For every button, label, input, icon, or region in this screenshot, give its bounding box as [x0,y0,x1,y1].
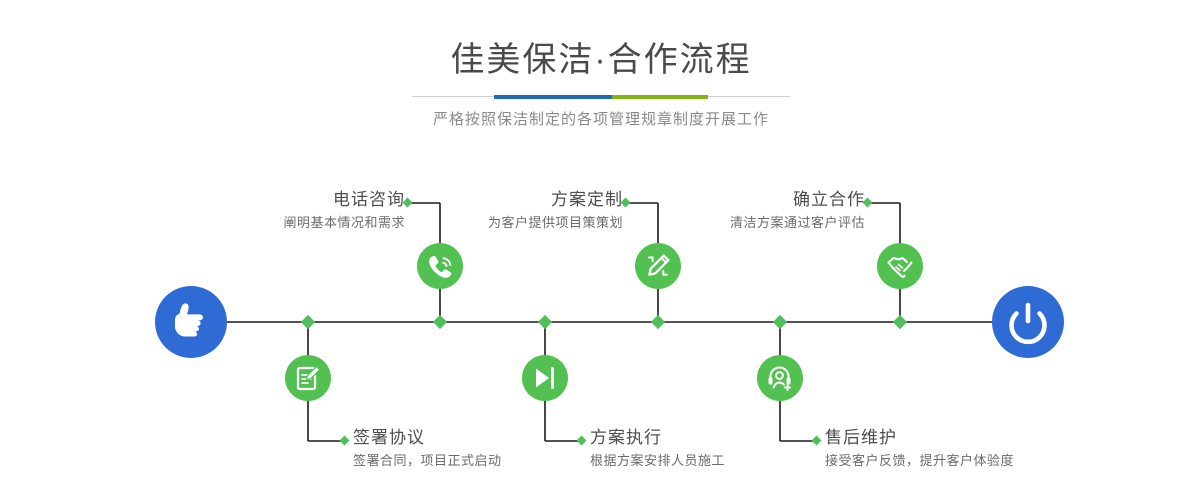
label-diamond-step-2 [340,436,350,446]
step-desc-6: 接受客户反馈，提升客户体验度 [825,451,1014,471]
customer-support-icon [757,355,803,401]
step-desc-5: 清洁方案通过客户评估 [560,213,865,233]
play-next-icon [522,355,568,401]
step-node-5[interactable] [877,243,923,289]
timeline-diamond-1 [301,315,315,329]
flow-start-node[interactable] [155,286,227,358]
timeline-diamond-2 [433,315,447,329]
pointing-hand-icon [155,286,227,358]
step-node-4[interactable] [522,355,568,401]
handshake-icon [877,243,923,289]
step-title-5: 确立合作 [560,189,865,211]
timeline-diamond-5 [773,315,787,329]
flow-end-node[interactable] [992,286,1064,358]
timeline-diamond-6 [893,315,907,329]
infographic-canvas: 佳美保洁·合作流程 严格按照保洁制定的各项管理规章制度开展工作 [0,0,1202,502]
phone-call-icon [417,243,463,289]
timeline-diamond-3 [538,315,552,329]
step-label-4: 方案执行 根据方案安排人员施工 [590,427,725,471]
step-desc-2: 签署合同，项目正式启动 [353,451,502,471]
step-node-2[interactable] [285,355,331,401]
step-title-6: 售后维护 [825,427,1014,449]
step-desc-4: 根据方案安排人员施工 [590,451,725,471]
label-diamond-step-6 [812,436,822,446]
step-node-6[interactable] [757,355,803,401]
step-label-2: 签署协议 签署合同，项目正式启动 [353,427,502,471]
label-diamond-step-4 [577,436,587,446]
step-title-4: 方案执行 [590,427,725,449]
step-node-1[interactable] [417,243,463,289]
contract-edit-icon [285,355,331,401]
step-node-3[interactable] [635,243,681,289]
step-label-6: 售后维护 接受客户反馈，提升客户体验度 [825,427,1014,471]
timeline-diamond-4 [651,315,665,329]
step-title-2: 签署协议 [353,427,502,449]
step-label-5: 确立合作 清洁方案通过客户评估 [560,189,865,233]
pencil-design-icon [635,243,681,289]
power-icon [992,286,1064,358]
